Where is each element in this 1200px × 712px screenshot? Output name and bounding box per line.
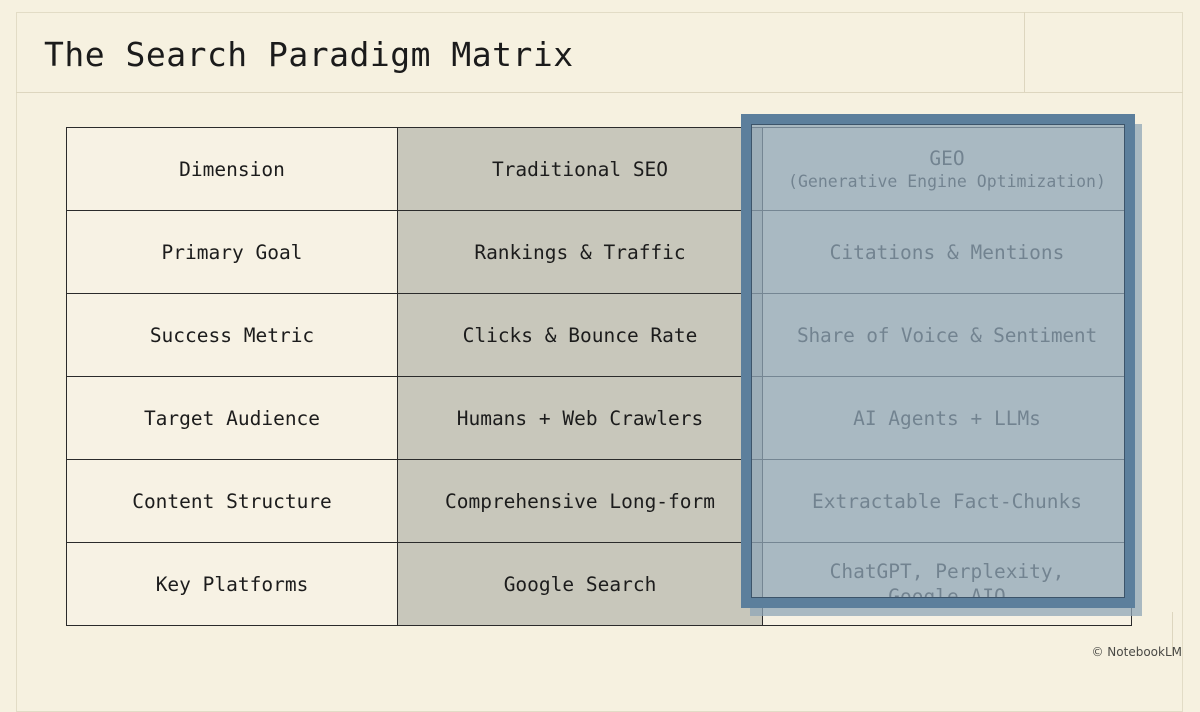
attribution-label: © NotebookLM	[1091, 645, 1182, 659]
cell-dimension-primary-goal: Primary Goal	[67, 211, 398, 294]
cell-dimension-content-structure: Content Structure	[67, 460, 398, 543]
cell-dimension-success-metric: Success Metric	[67, 294, 398, 377]
cell-seo-key-platforms: Google Search	[398, 543, 763, 626]
cell-dimension-key-platforms: Key Platforms	[67, 543, 398, 626]
cell-seo-target-audience: Humans + Web Crawlers	[398, 377, 763, 460]
cell-dimension-target-audience: Target Audience	[67, 377, 398, 460]
column-header-traditional-seo: Traditional SEO	[398, 128, 763, 211]
cell-seo-content-structure: Comprehensive Long-form	[398, 460, 763, 543]
slide-canvas: The Search Paradigm Matrix Dimension Tra…	[0, 0, 1200, 655]
cell-seo-primary-goal: Rankings & Traffic	[398, 211, 763, 294]
page-title: The Search Paradigm Matrix	[44, 32, 574, 78]
column-header-dimension: Dimension	[67, 128, 398, 211]
cell-seo-success-metric: Clicks & Bounce Rate	[398, 294, 763, 377]
header-column-divider	[1024, 12, 1025, 93]
geo-highlight-shadow	[750, 124, 1142, 616]
